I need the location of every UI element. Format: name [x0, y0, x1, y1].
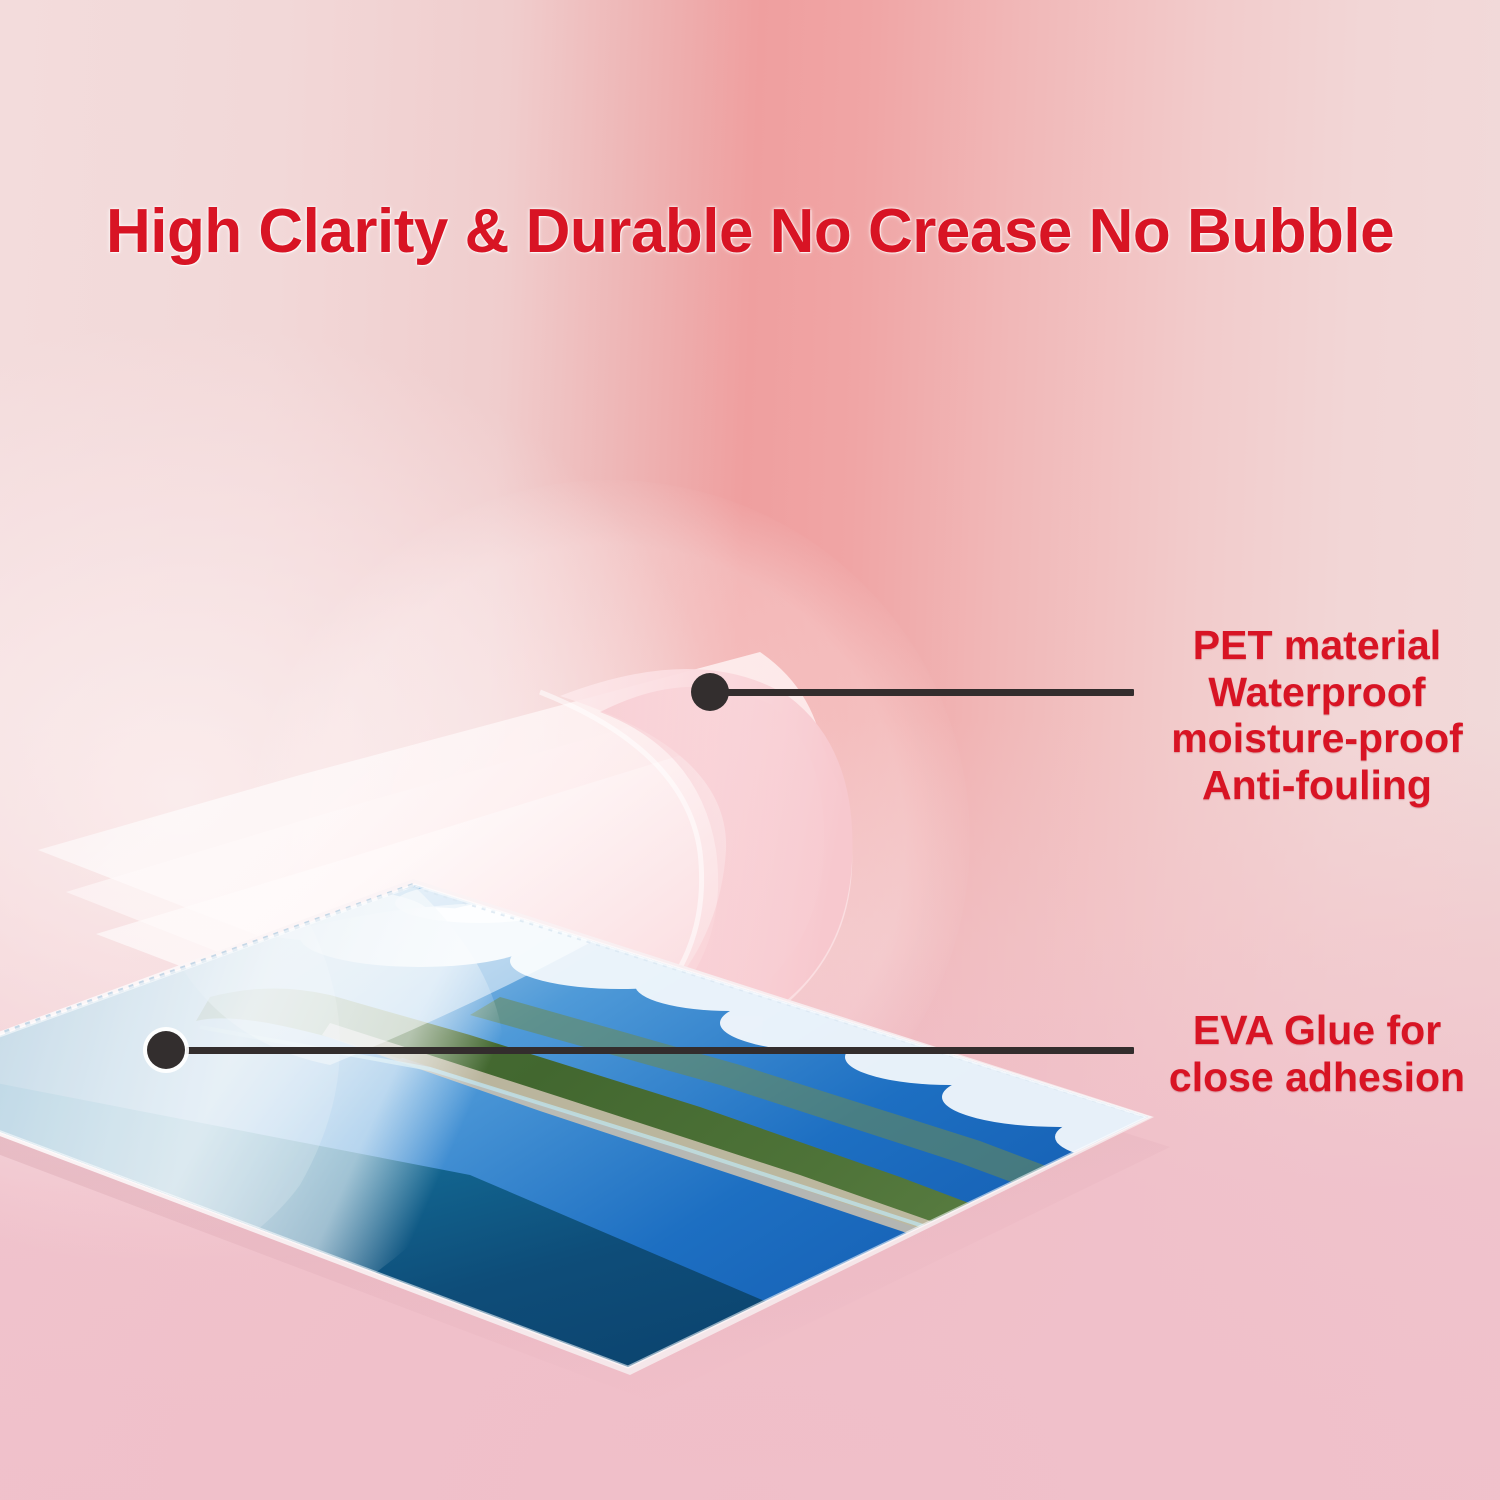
callout-label-pet-line-1: PET material	[1152, 622, 1482, 669]
screen-wallpaper	[0, 845, 1200, 1405]
callout-dot-eva[interactable]	[147, 1031, 185, 1069]
callout-label-eva-line-2: close adhesion	[1152, 1054, 1482, 1101]
callout-label-pet-line-4: Anti-fouling	[1152, 762, 1482, 809]
callout-label-pet-line-2: Waterproof	[1152, 669, 1482, 716]
product-infographic: High Clarity & Durable No Crease No Bubb…	[0, 0, 1500, 1500]
callout-label-eva-line-1: EVA Glue for	[1152, 1007, 1482, 1054]
laptop-screen-panel	[0, 845, 1200, 1405]
callout-label-eva: EVA Glue for close adhesion	[1152, 1007, 1482, 1100]
callout-label-pet: PET material Waterproof moisture-proof A…	[1152, 622, 1482, 809]
callout-label-pet-line-3: moisture-proof	[1152, 715, 1482, 762]
callout-leader-pet	[724, 689, 1134, 696]
callout-leader-eva	[186, 1047, 1134, 1054]
callout-dot-pet[interactable]	[691, 673, 729, 711]
page-title: High Clarity & Durable No Crease No Bubb…	[0, 196, 1500, 267]
